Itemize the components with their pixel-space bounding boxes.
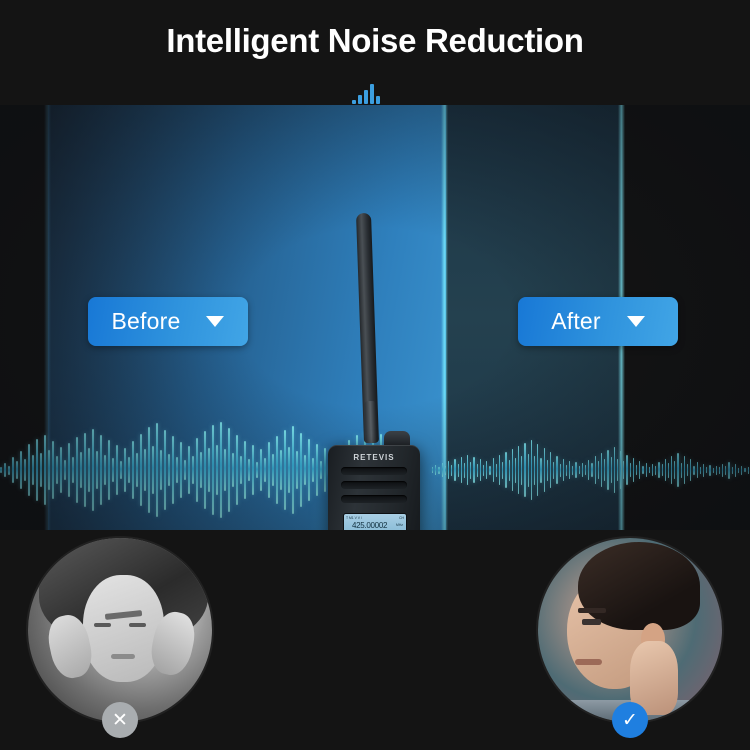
after-button[interactable]: After <box>518 297 678 346</box>
signal-bar <box>358 95 362 104</box>
lcd-unit-primary: MHz <box>396 523 403 527</box>
lcd-frequency-primary: 425.00002 <box>352 521 387 530</box>
lcd-screen: T M1 V V / CH 425.00002 MHz 425.00000 MH… <box>343 513 407 530</box>
woman-headache-photo <box>28 538 212 722</box>
woman-face-illustration <box>28 538 212 722</box>
product-marketing-image: Intelligent Noise Reduction RETEVIS T <box>0 0 750 750</box>
brand-logo: RETEVIS <box>328 453 420 462</box>
bottom-section: ✕ ✓ Ensure your clear reception in noisy… <box>0 530 750 750</box>
speaker-grille <box>341 481 407 489</box>
comparison-hero: RETEVIS T M1 V V / CH 425.00002 MHz 425.… <box>0 105 750 530</box>
lcd-status-right: CH <box>399 516 404 520</box>
chevron-down-icon <box>206 316 224 327</box>
signal-bar <box>376 96 380 104</box>
lcd-status-left: T M1 V V / <box>346 516 362 520</box>
device-body: RETEVIS T M1 V V / CH 425.00002 MHz 425.… <box>328 445 420 530</box>
man-face-illustration <box>538 538 722 722</box>
speaker-grille <box>341 467 407 475</box>
walkie-talkie-device: RETEVIS T M1 V V / CH 425.00002 MHz 425.… <box>322 213 426 530</box>
signal-bar <box>370 84 374 104</box>
before-button-label: Before <box>112 308 181 335</box>
man-listening-photo <box>538 538 722 722</box>
status-badge-positive: ✓ <box>612 702 648 738</box>
before-button[interactable]: Before <box>88 297 248 346</box>
speaker-grille <box>341 495 407 503</box>
signal-bar <box>364 90 368 104</box>
signal-bars-icon <box>352 78 398 104</box>
antenna <box>356 213 379 443</box>
status-badge-negative: ✕ <box>102 702 138 738</box>
after-button-label: After <box>551 308 601 335</box>
signal-bar <box>352 100 356 104</box>
page-title: Intelligent Noise Reduction <box>0 22 750 60</box>
chevron-down-icon <box>627 316 645 327</box>
